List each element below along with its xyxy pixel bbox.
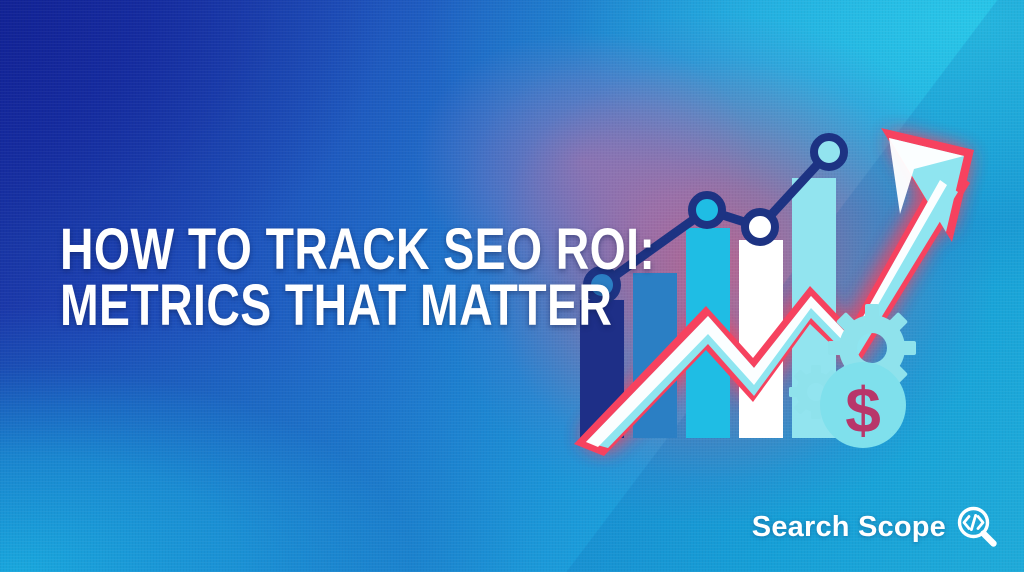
brand-name: Search Scope bbox=[752, 511, 946, 544]
headline-line-1: HOW TO TRACK SEO ROI: bbox=[60, 222, 476, 278]
line-point-3 bbox=[745, 212, 775, 242]
line-point-4 bbox=[814, 137, 844, 167]
dollar-coin-icon: $ bbox=[820, 362, 906, 448]
headline-line-2: METRICS THAT MATTER bbox=[60, 278, 476, 334]
brand-logo[interactable]: Search Scope bbox=[752, 504, 1000, 550]
magnifier-code-icon bbox=[954, 504, 1000, 550]
social-card: HOW TO TRACK SEO ROI: METRICS THAT MATTE… bbox=[0, 0, 1024, 572]
svg-text:$: $ bbox=[845, 374, 881, 446]
line-point-2 bbox=[692, 195, 722, 225]
page-title: HOW TO TRACK SEO ROI: METRICS THAT MATTE… bbox=[60, 222, 580, 334]
seo-growth-illustration: $ bbox=[548, 110, 978, 470]
